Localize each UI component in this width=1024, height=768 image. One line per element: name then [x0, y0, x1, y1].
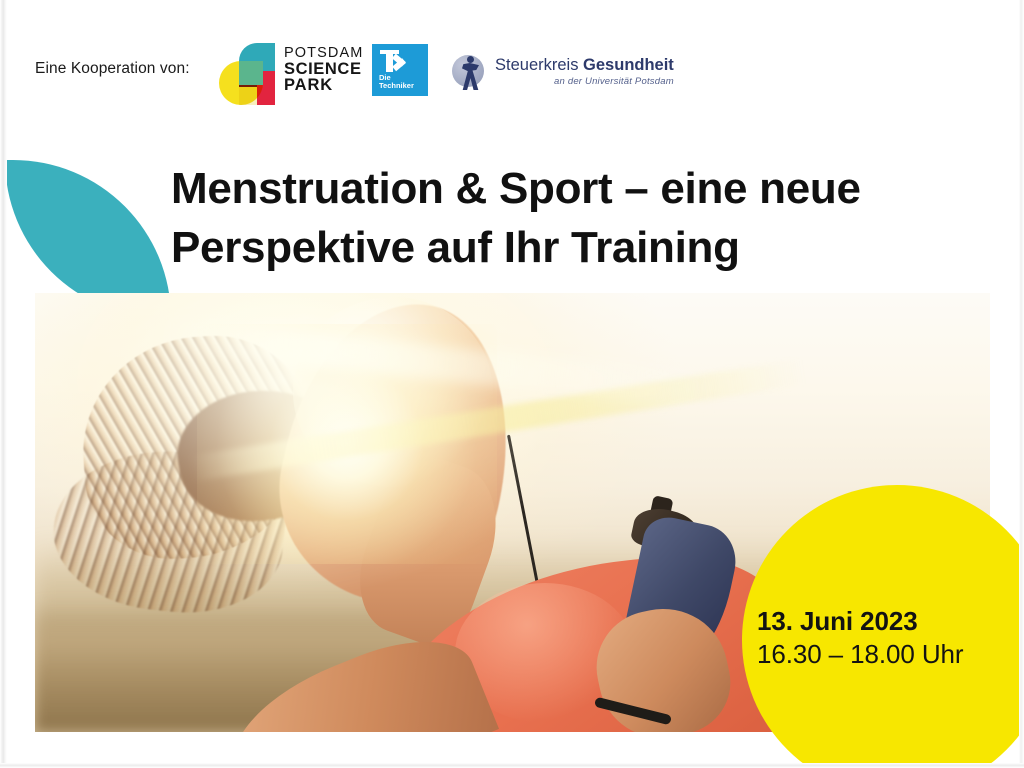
tk-subtitle-line-2: Techniker [379, 82, 428, 90]
psp-line-1: POTSDAM [284, 46, 363, 61]
tk-monogram-icon [379, 50, 413, 72]
steuerkreis-word-bold: Gesundheit [583, 56, 674, 74]
potsdam-science-park-mark-icon [219, 41, 275, 99]
header: Eine Kooperation von: POTSDAM SCIENCE PA… [0, 0, 1024, 135]
cooperation-label: Eine Kooperation von: [35, 60, 190, 78]
logo-potsdam-science-park: POTSDAM SCIENCE PARK [219, 41, 351, 99]
page-title: Menstruation & Sport – eine neue Perspek… [171, 160, 891, 277]
poster-slide: Eine Kooperation von: POTSDAM SCIENCE PA… [0, 0, 1024, 768]
potsdam-science-park-wordmark: POTSDAM SCIENCE PARK [284, 46, 363, 94]
page-title-line-2: Perspektive auf Ihr Training [171, 219, 891, 278]
steuerkreis-person-sphere-icon [450, 53, 486, 91]
steuerkreis-subtitle: an der Universität Potsdam [495, 76, 674, 87]
psp-line-2: SCIENCE [284, 61, 363, 78]
event-time: 16.30 – 18.00 Uhr [757, 638, 963, 671]
logo-techniker-krankenkasse: Die Techniker [372, 44, 428, 96]
psp-line-3: PARK [284, 77, 363, 94]
tk-subtitle: Die Techniker [379, 74, 428, 91]
page-edge-right [1019, 0, 1024, 768]
page-edge-left [0, 0, 7, 768]
page-edge-bottom [0, 763, 1024, 768]
logo-steuerkreis-gesundheit: Steuerkreis Gesundheit an der Universitä… [450, 46, 674, 98]
steuerkreis-word-light: Steuerkreis [495, 56, 583, 74]
event-date-block: 13. Juni 2023 16.30 – 18.00 Uhr [757, 605, 963, 670]
steuerkreis-wordmark: Steuerkreis Gesundheit an der Universitä… [495, 57, 674, 86]
page-title-line-1: Menstruation & Sport – eine neue [171, 160, 891, 219]
event-date: 13. Juni 2023 [757, 605, 963, 638]
